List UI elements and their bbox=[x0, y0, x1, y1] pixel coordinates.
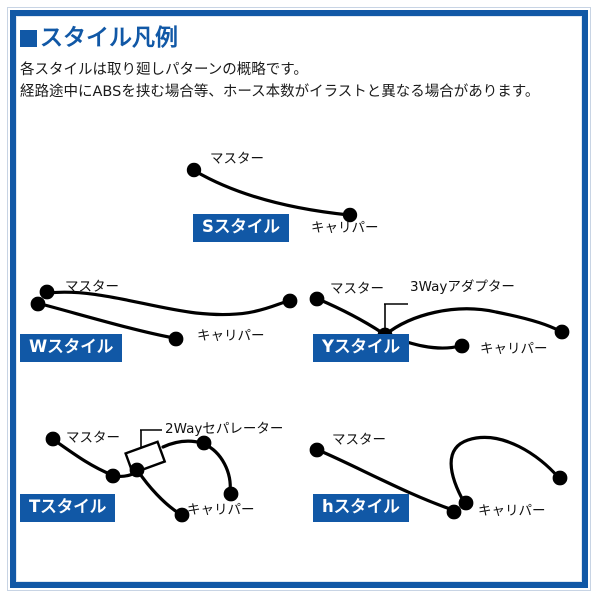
y-style-caliper-fitting-dot-1 bbox=[555, 325, 570, 340]
h-style-hose-line-loop bbox=[451, 437, 558, 504]
w-style-master-fitting-dot-2 bbox=[31, 297, 46, 312]
s-style-master-fitting-dot bbox=[187, 163, 201, 177]
t-style-junction-dot-lower bbox=[106, 469, 121, 484]
h-style-caliper-fitting-dot-1 bbox=[447, 505, 462, 520]
s-style-chip[interactable]: Sスタイル bbox=[193, 214, 289, 242]
y-style-caliper-label: キャリパー bbox=[480, 343, 548, 357]
t-style-caliper-fitting-dot-1 bbox=[224, 487, 239, 502]
y-style-hose-line-master bbox=[318, 299, 384, 334]
w-style-caliper-fitting-dot-1 bbox=[283, 294, 298, 309]
h-style-chip[interactable]: hスタイル bbox=[313, 494, 409, 522]
t-style-master-label: マスター bbox=[66, 432, 120, 446]
t-style-junction-dot-upper bbox=[130, 463, 145, 478]
y-style-master-fitting-dot bbox=[310, 292, 325, 307]
s-style-master-label: マスター bbox=[210, 153, 264, 167]
t-style-hose-line-caliper-2 bbox=[138, 471, 180, 514]
s-style-hose-line bbox=[195, 171, 349, 215]
w-style-master-label: マスター bbox=[65, 281, 119, 295]
t-style-hose-line-separator-out bbox=[163, 441, 202, 447]
style-legend-page: スタイル凡例 各スタイルは取り廻しパターンの概略です。 経路途中にABSを挟む場… bbox=[0, 0, 600, 600]
w-style-caliper-fitting-dot-2 bbox=[169, 332, 184, 347]
t-style-caliper-label: キャリパー bbox=[187, 504, 255, 518]
h-style-caliper-fitting-dot-2 bbox=[459, 496, 474, 511]
h-style-caliper-fitting-dot-3 bbox=[553, 471, 568, 486]
w-style-chip[interactable]: Wスタイル bbox=[20, 334, 122, 362]
t-style-master-fitting-dot bbox=[46, 432, 61, 447]
w-style-hose-line-lower bbox=[41, 304, 174, 338]
h-style-master-fitting-dot bbox=[310, 443, 325, 458]
w-style-caliper-label: キャリパー bbox=[197, 330, 265, 344]
w-style-hose-line-upper bbox=[48, 292, 288, 314]
y-style-3way-adapter-label: 3Wayアダプター bbox=[410, 281, 515, 295]
y-style-master-label: マスター bbox=[330, 283, 384, 297]
t-style-chip[interactable]: Tスタイル bbox=[20, 494, 115, 522]
style-diagram-layer: マスター キャリパー Sスタイル マスター キャリパー Wスタイル マスター 3… bbox=[16, 16, 582, 582]
y-style-chip[interactable]: Yスタイル bbox=[313, 334, 409, 362]
t-style-hose-line-caliper-1 bbox=[204, 444, 230, 492]
s-style-caliper-label: キャリパー bbox=[311, 222, 379, 236]
w-style-master-fitting-dot-1 bbox=[40, 285, 55, 300]
y-style-hose-line-upper-branch bbox=[385, 309, 560, 335]
t-style-2way-separator-label: 2Wayセパレーター bbox=[165, 423, 283, 437]
t-style-separator-out-dot bbox=[197, 436, 212, 451]
h-style-caliper-label: キャリパー bbox=[478, 505, 546, 519]
h-style-master-label: マスター bbox=[332, 434, 386, 448]
y-style-caliper-fitting-dot-2 bbox=[455, 339, 470, 354]
